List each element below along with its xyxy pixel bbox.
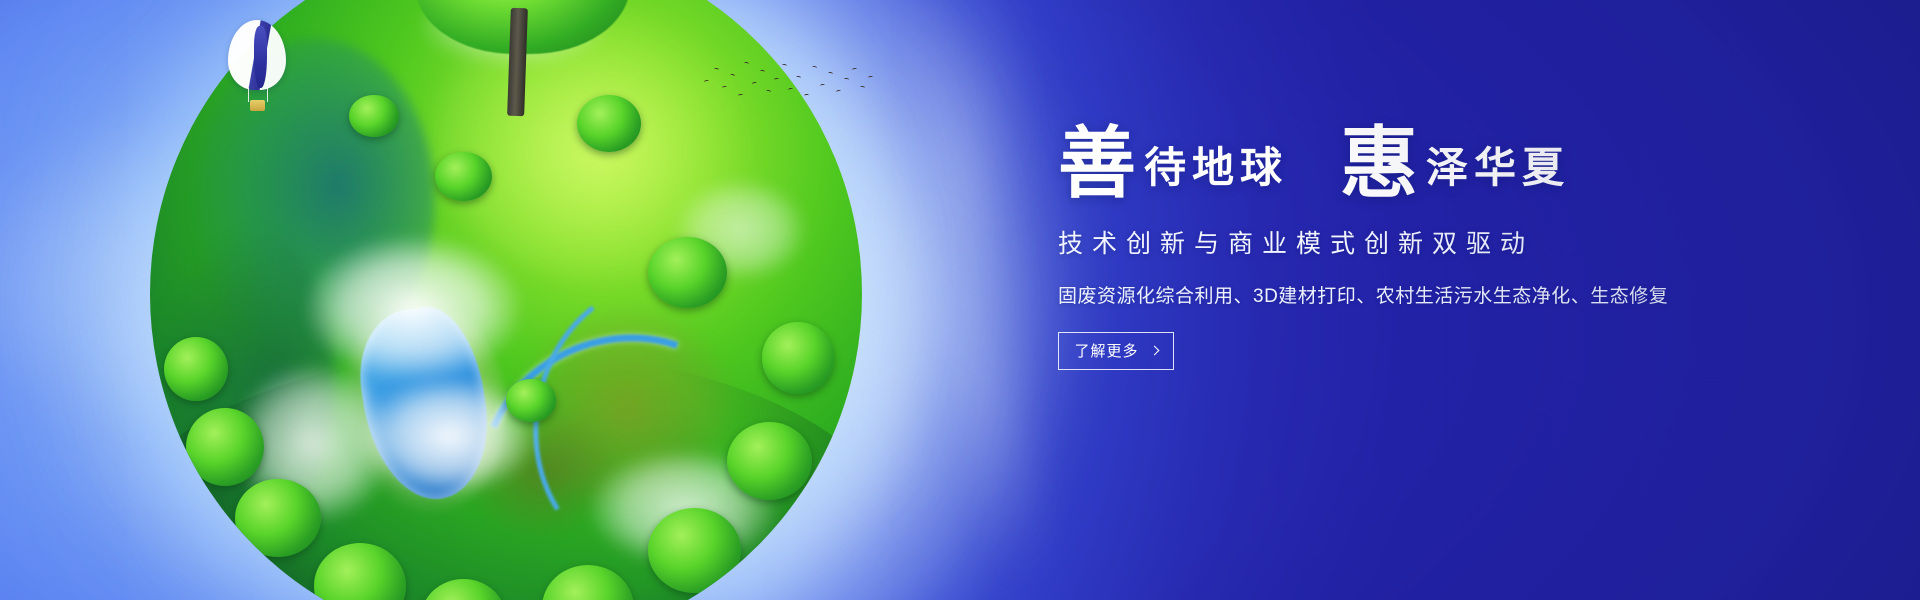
headline-part-1-small: 待地球 <box>1136 148 1288 200</box>
learn-more-label: 了解更多 <box>1074 340 1138 361</box>
learn-more-button[interactable]: 了解更多 <box>1058 332 1174 370</box>
page-title: 善 待地球 惠 泽华夏 <box>1058 128 1818 200</box>
headline-part-2-large: 惠 <box>1340 128 1418 200</box>
tree-image <box>415 0 630 104</box>
tree-trunk <box>507 8 528 117</box>
bird-flock-icon <box>700 50 875 105</box>
headline-part-2-small: 泽华夏 <box>1418 148 1570 200</box>
hero-tagline: 固废资源化综合利用、3D建材打印、农村生活污水生态净化、生态修复 <box>1058 281 1818 308</box>
hero-banner: 善 待地球 惠 泽华夏 技术创新与商业模式创新双驱动 固废资源化综合利用、3D建… <box>0 0 1920 600</box>
hero-subtitle: 技术创新与商业模式创新双驱动 <box>1058 224 1818 260</box>
headline-part-1-large: 善 <box>1058 128 1136 200</box>
hero-copy: 善 待地球 惠 泽华夏 技术创新与商业模式创新双驱动 固废资源化综合利用、3D建… <box>1058 128 1818 370</box>
chevron-right-icon <box>1149 345 1159 355</box>
hot-air-balloon-icon <box>228 20 286 116</box>
